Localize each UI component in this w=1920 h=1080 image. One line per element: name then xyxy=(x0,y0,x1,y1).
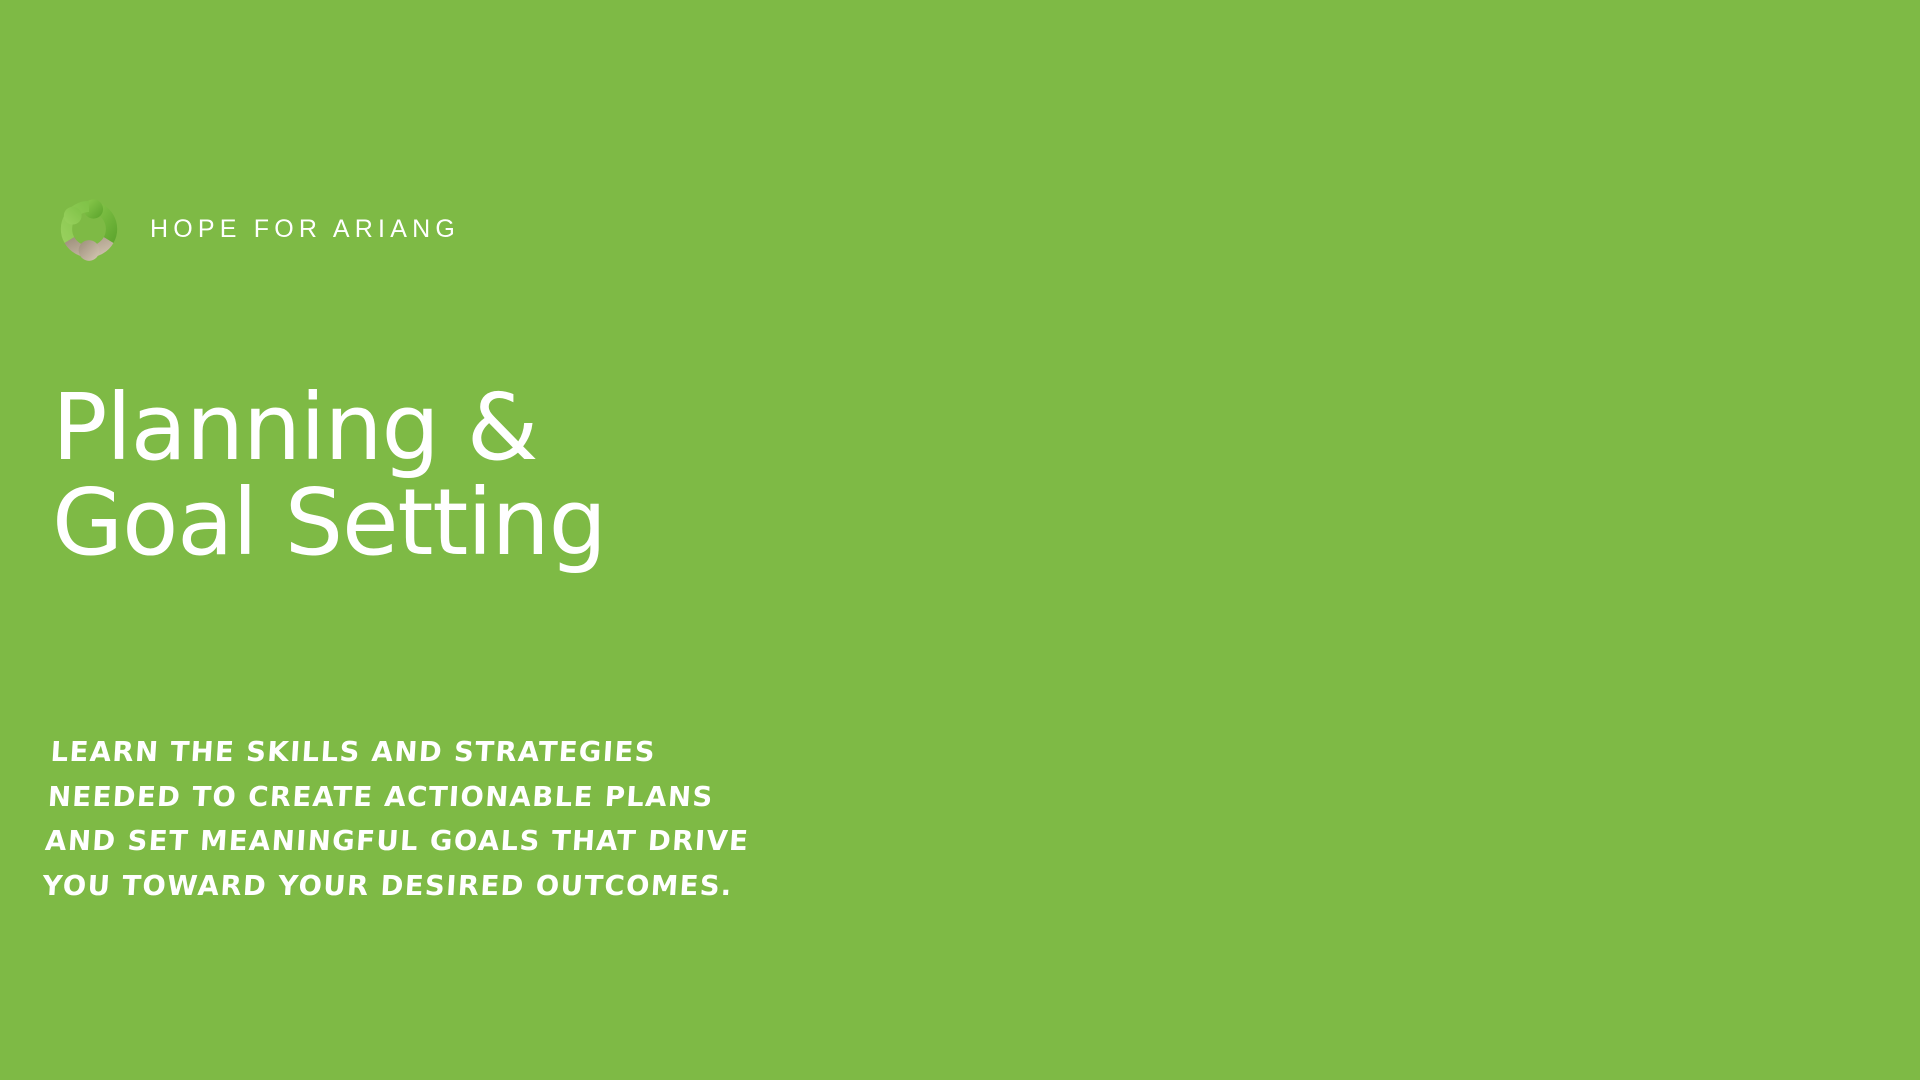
body-line-1: Learn the skills and strategies xyxy=(49,730,672,775)
headline-line-2: Goal Setting xyxy=(52,475,872,571)
body-line-2: needed to create actionable plans xyxy=(47,774,670,819)
brand-lockup[interactable]: HOPE FOR ARIANG xyxy=(52,192,460,266)
circle-of-people-logo-icon xyxy=(52,192,126,266)
headline-line-1: Planning & xyxy=(52,380,872,476)
page-title: Planning & Goal Setting xyxy=(52,380,872,571)
body-line-3: and set meaningful goals that drive xyxy=(44,819,667,864)
description-text: Learn the skills and strategies needed t… xyxy=(41,730,672,908)
body-line-4: you toward your desired outcomes. xyxy=(41,863,664,908)
slide-canvas: P6 P5 xyxy=(0,0,1920,1080)
brand-name: HOPE FOR ARIANG xyxy=(150,217,460,242)
